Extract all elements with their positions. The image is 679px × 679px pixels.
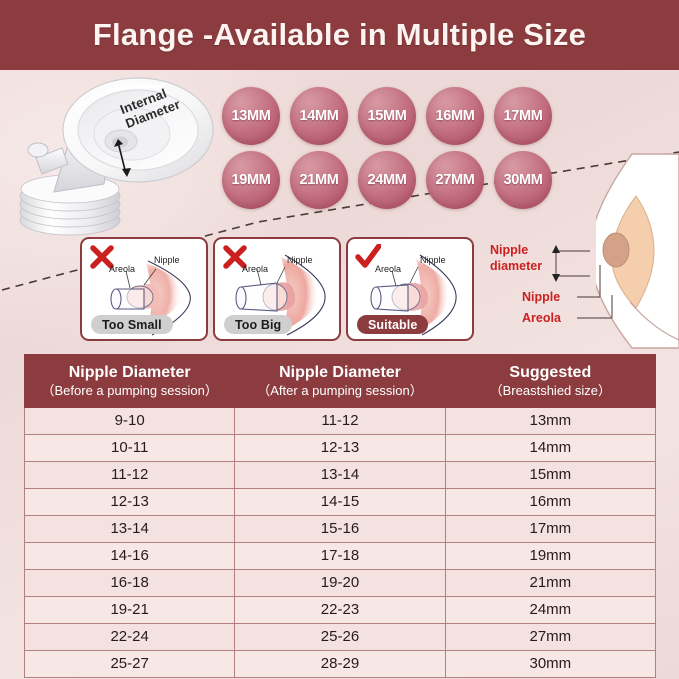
cell-after: 14-15 [235,489,445,516]
comparison-box-too-small: Areola Nipple Too Small [80,237,208,341]
cell-before: 9-10 [25,408,235,435]
cell-suggested: 27mm [445,624,655,651]
size-badge[interactable]: 21MM [290,151,348,209]
cell-suggested: 21mm [445,570,655,597]
label-nipple: Nipple [287,255,313,265]
cell-suggested: 30mm [445,651,655,678]
label-areola: Areola [522,311,561,325]
cell-suggested: 15mm [445,462,655,489]
verdict-badge: Too Big [224,315,292,334]
cell-suggested: 17mm [445,516,655,543]
label-nipple-diameter-line2: diameter [490,259,542,273]
cell-before: 13-14 [25,516,235,543]
header-main: Suggested [446,364,655,382]
comparison-box-suitable: Areola Nipple Suitable [346,237,474,341]
label-areola: Areola [375,264,401,274]
cell-after: 17-18 [235,543,445,570]
size-badge[interactable]: 27MM [426,151,484,209]
label-nipple: Nipple [522,290,560,304]
cell-before: 16-18 [25,570,235,597]
cell-after: 19-20 [235,570,445,597]
size-badge[interactable]: 15MM [358,87,416,145]
infographic-page: Flange -Available in Multiple Size [0,0,679,679]
size-badge[interactable]: 16MM [426,87,484,145]
table-row: 16-18 19-20 21mm [25,570,656,597]
comparison-box-too-big: Areola Nipple Too Big [213,237,341,341]
table-header-cell-suggested: Suggested （Breastshied size） [445,355,655,408]
verdict-badge: Too Small [91,315,173,334]
table-row: 25-27 28-29 30mm [25,651,656,678]
table-row: 19-21 22-23 24mm [25,597,656,624]
header-sub: （Breastshied size） [446,383,655,399]
size-badge[interactable]: 19MM [222,151,280,209]
size-chart-table: Nipple Diameter （Before a pumping sessio… [24,354,656,678]
table-row: 9-10 11-12 13mm [25,408,656,435]
size-badge-row-1: 13MM 14MM 15MM 16MM 17MM [222,87,552,145]
cell-after: 11-12 [235,408,445,435]
cell-before: 19-21 [25,597,235,624]
label-nipple: Nipple [420,255,446,265]
cell-before: 11-12 [25,462,235,489]
table-row: 10-11 12-13 14mm [25,435,656,462]
page-title: Flange -Available in Multiple Size [93,17,586,53]
cell-after: 12-13 [235,435,445,462]
cell-after: 13-14 [235,462,445,489]
size-badge-row-2: 19MM 21MM 24MM 27MM 30MM [222,151,552,209]
header-band: Flange -Available in Multiple Size [0,0,679,70]
size-badge[interactable]: 13MM [222,87,280,145]
table-header-row: Nipple Diameter （Before a pumping sessio… [25,355,656,408]
header-main: Nipple Diameter [25,364,234,382]
label-nipple-diameter: Nipple diameter [490,243,542,274]
size-badge[interactable]: 14MM [290,87,348,145]
cell-suggested: 19mm [445,543,655,570]
table-header: Nipple Diameter （Before a pumping sessio… [25,355,656,408]
table-body: 9-10 11-12 13mm 10-11 12-13 14mm 11-12 1… [25,408,656,678]
size-badge[interactable]: 30MM [494,151,552,209]
cell-suggested: 24mm [445,597,655,624]
table-header-cell-after: Nipple Diameter （After a pumping session… [235,355,445,408]
table-row: 11-12 13-14 15mm [25,462,656,489]
table-row: 22-24 25-26 27mm [25,624,656,651]
label-nipple-diameter-line1: Nipple [490,243,528,257]
table-header-cell-before: Nipple Diameter （Before a pumping sessio… [25,355,235,408]
size-badge[interactable]: 17MM [494,87,552,145]
label-areola: Areola [109,264,135,274]
cell-before: 10-11 [25,435,235,462]
cell-suggested: 14mm [445,435,655,462]
cell-before: 14-16 [25,543,235,570]
verdict-badge: Suitable [357,315,428,334]
table-row: 13-14 15-16 17mm [25,516,656,543]
cell-suggested: 16mm [445,489,655,516]
cell-after: 15-16 [235,516,445,543]
cell-after: 28-29 [235,651,445,678]
header-sub: （After a pumping session） [235,383,444,399]
table-row: 14-16 17-18 19mm [25,543,656,570]
size-badge[interactable]: 24MM [358,151,416,209]
header-main: Nipple Diameter [235,364,444,382]
cell-before: 25-27 [25,651,235,678]
cell-after: 25-26 [235,624,445,651]
cell-after: 22-23 [235,597,445,624]
header-sub: （Before a pumping session） [25,383,234,399]
cell-before: 12-13 [25,489,235,516]
cell-suggested: 13mm [445,408,655,435]
label-areola: Areola [242,264,268,274]
cell-before: 22-24 [25,624,235,651]
table-row: 12-13 14-15 16mm [25,489,656,516]
label-nipple: Nipple [154,255,180,265]
